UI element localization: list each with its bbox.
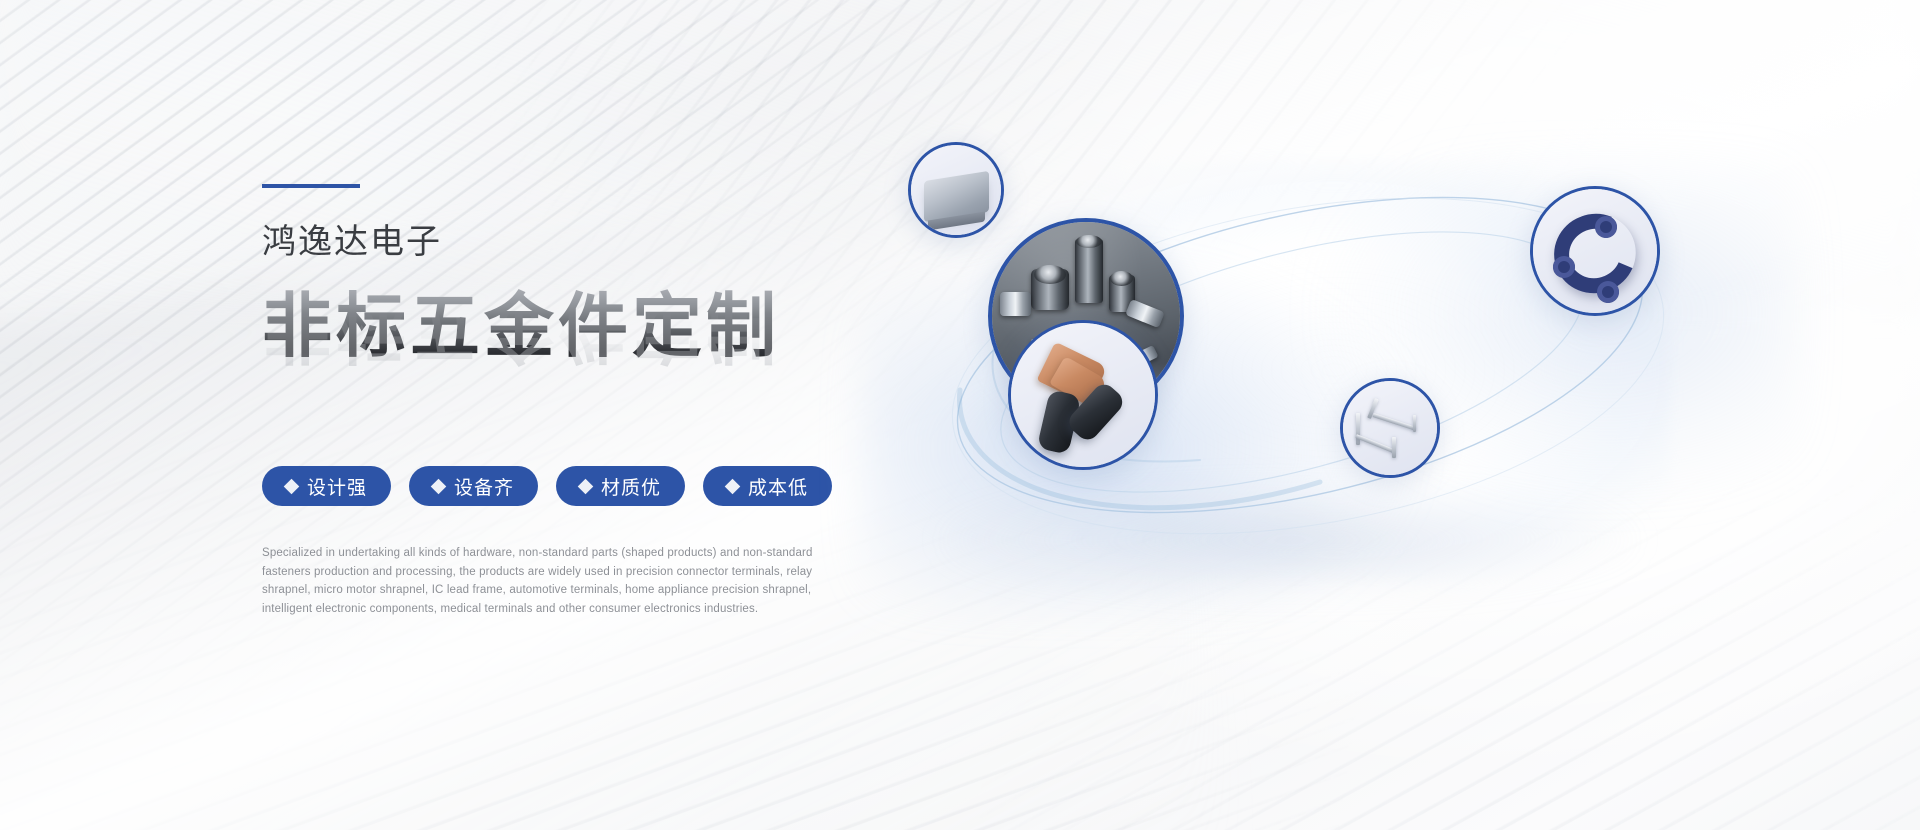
feature-tag-label: 设备齐 (454, 473, 514, 500)
feature-tag-material[interactable]: 材质优 (556, 466, 685, 506)
part-connector-flange (1000, 292, 1032, 316)
photo-surface (1343, 381, 1437, 475)
pin-leg-left (1356, 413, 1360, 445)
accent-bar (262, 184, 360, 188)
diamond-icon (284, 478, 300, 494)
bent-metal-terminals-photo[interactable] (1340, 378, 1440, 478)
diamond-icon (725, 478, 741, 494)
part-cylinder-tall (1075, 239, 1103, 303)
feature-tag-label: 材质优 (601, 473, 661, 500)
feature-tag-equipment[interactable]: 设备齐 (409, 466, 538, 506)
pin-arm-left (1355, 434, 1395, 453)
copper-battery-clamp-photo[interactable] (1008, 320, 1158, 470)
retaining-ring-lug (1553, 256, 1575, 278)
retaining-ring-photo[interactable] (1530, 186, 1660, 316)
headline-reflection: 非标五金件定制 (262, 291, 902, 367)
part-socket-small-bore (1110, 271, 1133, 286)
brand-name: 鸿逸达电子 (262, 225, 902, 259)
feature-tag-list: 设计强 设备齐 材质优 成本低 (262, 466, 902, 506)
retaining-ring-lug (1597, 281, 1619, 303)
photo-surface (1011, 323, 1155, 467)
feature-tag-cost[interactable]: 成本低 (703, 466, 832, 506)
pin-tip-right (1413, 415, 1417, 432)
company-description: Specialized in undertaking all kinds of … (262, 544, 862, 619)
photo-surface (1533, 189, 1657, 313)
pin-tip-bottom (1392, 437, 1396, 458)
feature-tag-label: 设计强 (307, 473, 367, 500)
diamond-icon (431, 478, 447, 494)
retaining-ring-shape (1542, 201, 1648, 305)
photo-surface (911, 145, 1001, 235)
metal-shield-box-photo[interactable] (908, 142, 1004, 238)
hero-text-column: 鸿逸达电子 非标五金件定制 非标五金件定制 设计强 设备齐 材质优 成本低 (262, 184, 902, 619)
hero-banner: 鸿逸达电子 非标五金件定制 非标五金件定制 设计强 设备齐 材质优 成本低 (0, 0, 1920, 830)
shield-box-shape (924, 170, 989, 222)
pin-arm-upper (1372, 413, 1416, 431)
product-showcase-artwork (900, 130, 1760, 610)
headline-wrap: 非标五金件定制 非标五金件定制 (262, 289, 902, 442)
feature-tag-label: 成本低 (748, 473, 808, 500)
feature-tag-design[interactable]: 设计强 (262, 466, 391, 506)
diamond-icon (578, 478, 594, 494)
